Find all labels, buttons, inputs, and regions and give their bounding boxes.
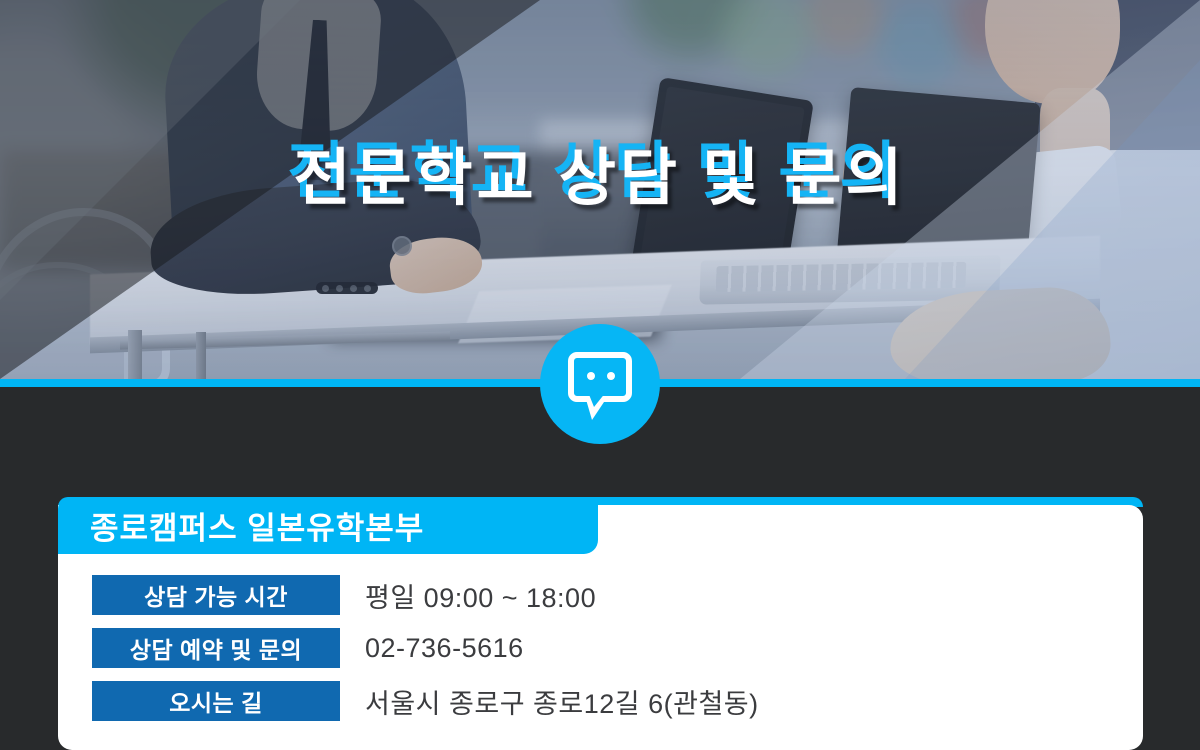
- info-row: 오시는 길 서울시 종로구 종로12길 6(관철동): [58, 681, 1143, 721]
- card-header-tab: 종로캠퍼스 일본유학본부: [58, 497, 598, 554]
- hero-banner: 전문학교 상담 및 문의 전문학교 상담 및 문의 전문학교 상담 및 문의: [0, 0, 1200, 379]
- info-label-phone: 상담 예약 및 문의: [92, 628, 340, 668]
- contact-info-list: 상담 가능 시간 평일 09:00 ~ 18:00 상담 예약 및 문의 02-…: [58, 575, 1143, 734]
- chat-bubble-dot-2: [607, 372, 615, 380]
- card-header-title: 종로캠퍼스 일본유학본부: [90, 503, 424, 548]
- info-value-phone: 02-736-5616: [365, 633, 524, 664]
- hero-photo: [0, 0, 1200, 379]
- chat-bubble-tail-inner: [588, 392, 606, 407]
- info-label-address: 오시는 길: [92, 681, 340, 721]
- info-value-address: 서울시 종로구 종로12길 6(관철동): [365, 682, 759, 721]
- info-label-consult-hours: 상담 가능 시간: [92, 575, 340, 615]
- chat-bubble-dot-1: [587, 372, 595, 380]
- info-value-consult-hours: 평일 09:00 ~ 18:00: [365, 576, 596, 615]
- info-row: 상담 예약 및 문의 02-736-5616: [58, 628, 1143, 668]
- chat-bubble-icon: [540, 324, 660, 444]
- info-row: 상담 가능 시간 평일 09:00 ~ 18:00: [58, 575, 1143, 615]
